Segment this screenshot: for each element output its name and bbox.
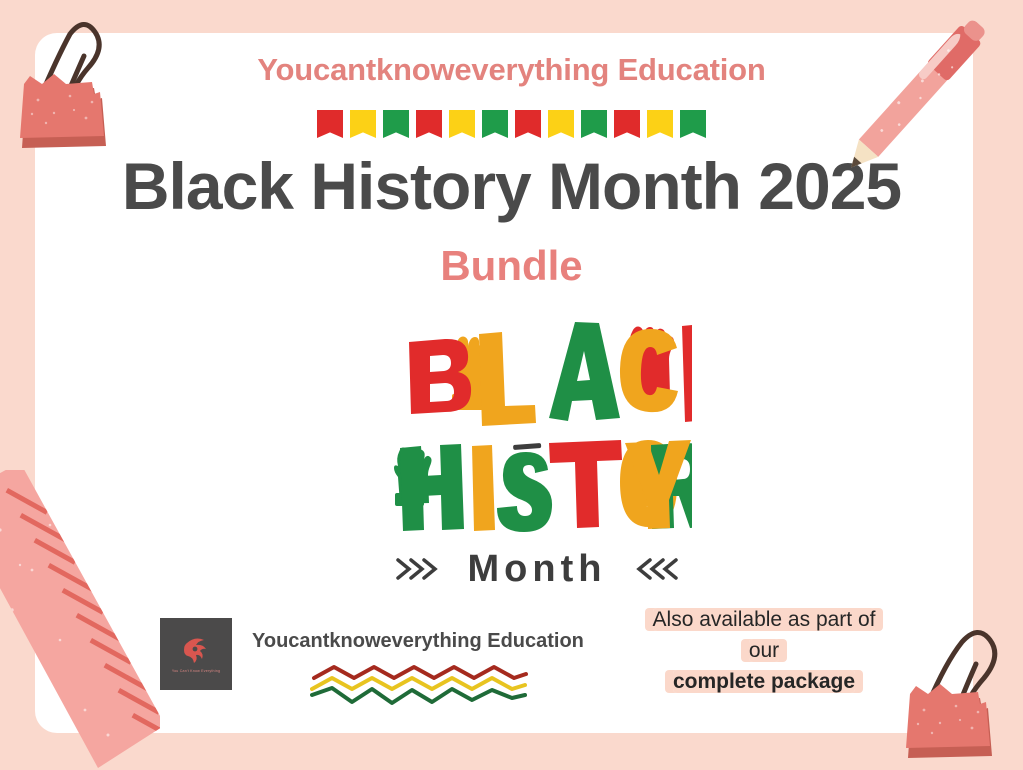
footer-logo-row: You Can't Know Everything Youcantknoweve… bbox=[160, 618, 600, 718]
bunting-flag bbox=[482, 110, 508, 138]
callout-line-1: Also available as part of bbox=[653, 608, 876, 631]
logo-glyph-icon bbox=[181, 635, 211, 665]
artwork-word-history bbox=[400, 440, 692, 532]
svg-text:Month: Month bbox=[468, 548, 607, 590]
brand-logo-mark: You Can't Know Everything bbox=[160, 618, 232, 690]
bunting-flag bbox=[614, 110, 640, 138]
page-title: Black History Month 2025 bbox=[0, 148, 1023, 224]
bunting-flag bbox=[515, 110, 541, 138]
black-history-month-artwork: Month bbox=[382, 298, 692, 594]
bunting-flag bbox=[317, 110, 343, 138]
artwork-dash bbox=[513, 443, 541, 450]
page-subtitle: Bundle bbox=[0, 242, 1023, 290]
brand-heading: Youcantknoweverything Education bbox=[0, 52, 1023, 88]
poster-canvas: Youcantknoweverything Education Black Hi… bbox=[0, 0, 1023, 768]
bunting-flags bbox=[0, 110, 1023, 138]
logo-caption: You Can't Know Everything bbox=[172, 669, 220, 673]
bunting-flag bbox=[449, 110, 475, 138]
callout-line-2: our bbox=[749, 639, 779, 662]
bunting-flag bbox=[350, 110, 376, 138]
bunting-flag bbox=[647, 110, 673, 138]
bunting-flag bbox=[680, 110, 706, 138]
bunting-flag bbox=[581, 110, 607, 138]
bunting-flag bbox=[416, 110, 442, 138]
footer-brand-name: Youcantknoweverything Education bbox=[252, 630, 584, 653]
bunting-flag bbox=[383, 110, 409, 138]
callout-box: Also available as part of our complete p… bbox=[608, 604, 920, 697]
bunting-flag bbox=[548, 110, 574, 138]
artwork-word-month: Month bbox=[398, 548, 676, 590]
callout-line-3: complete package bbox=[673, 670, 855, 693]
wave-decoration bbox=[310, 662, 530, 708]
